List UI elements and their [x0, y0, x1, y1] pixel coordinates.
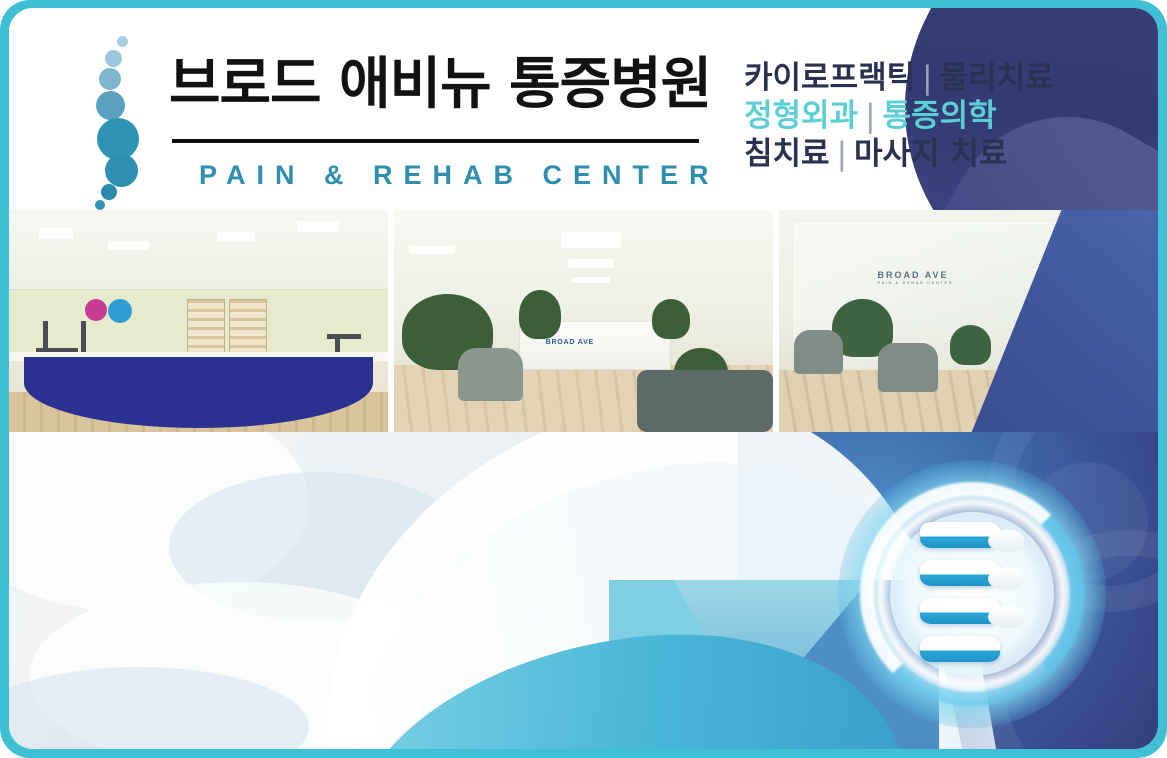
- title-divider: [172, 139, 699, 143]
- service-separator: |: [915, 60, 939, 96]
- service-pain-medicine: 통증의학: [883, 98, 997, 134]
- service-acupuncture: 침치료: [744, 136, 830, 172]
- reception-photo: BROAD AVE: [394, 210, 773, 432]
- service-row-1: 카이로프랙틱|물리치료: [744, 60, 1084, 98]
- service-orthopedics: 정형외과: [744, 98, 858, 134]
- glass-logo-decal: BROAD AVE PAIN & REHAB CENTER: [878, 270, 954, 285]
- service-chiropractic: 카이로프랙틱: [744, 60, 915, 96]
- service-separator-2: |: [858, 98, 882, 134]
- reception-sign: BROAD AVE: [546, 339, 594, 346]
- photo-strip: BROAD AVE BROAD AVE PAIN & REHAB CENTER: [9, 210, 1158, 432]
- card-header: 브로드 애비뉴 통증병원 PAIN & REHAB CENTER 카이로프랙틱|…: [9, 8, 1158, 210]
- waiting-area-photo: BROAD AVE PAIN & REHAB CENTER: [779, 210, 1158, 432]
- clinic-name: 브로드 애비뉴 통증병원: [169, 56, 729, 115]
- service-row-3: 침치료|마사지 치료: [744, 136, 1084, 174]
- service-massage: 마사지 치료: [854, 136, 1007, 172]
- clinic-name-kr: 브로드 애비뉴 통증병원: [169, 56, 729, 115]
- service-row-2: 정형외과|통증의학: [744, 98, 1084, 136]
- clinic-tagline: PAIN & REHAB CENTER: [199, 160, 720, 191]
- services-list: 카이로프랙틱|물리치료 정형외과|통증의학 침치료|마사지 치료: [744, 60, 1084, 173]
- card-lower: 교통사고 전문, 통증치료 전문 669 Broad Ave, Suite 20…: [9, 432, 1158, 749]
- rehab-gym-photo: [9, 210, 388, 432]
- service-physical-therapy: 물리치료: [940, 60, 1054, 96]
- service-separator-3: |: [830, 136, 854, 172]
- vertebrae-3d-medallion: [838, 460, 1106, 728]
- business-card: 브로드 애비뉴 통증병원 PAIN & REHAB CENTER 카이로프랙틱|…: [0, 0, 1167, 758]
- card-inner: 브로드 애비뉴 통증병원 PAIN & REHAB CENTER 카이로프랙틱|…: [9, 8, 1158, 749]
- spine-dots-logo-icon: [87, 36, 153, 208]
